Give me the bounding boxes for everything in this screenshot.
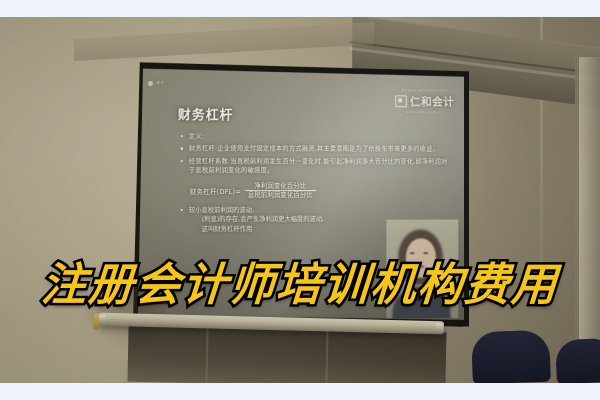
slide-bullet: 经营杠杆系数:当息税前利润发生百分一变化时,能引起净利润多大百分比的变化,即净利… (180, 157, 449, 176)
slide-formula: 财务杠杆(DFL)= 净利润变化百分比 息税前利润变化百分比 (190, 182, 449, 199)
slide-bullet-list: 定义: 财务杠杆:企业使用支付固定成本的方式融资,其主要意图是为了给股东带来更多… (180, 132, 449, 175)
formula-denominator: 息税前利润变化百分比 (245, 190, 316, 199)
brand-name: 仁和会计 (410, 93, 455, 109)
brand-url: www.rhkj.com.cn (395, 110, 454, 114)
brand-row: 仁和会计 (395, 93, 454, 109)
panel-seam (325, 330, 328, 383)
panel-seam (205, 327, 208, 383)
slide-badge: 课件 (148, 80, 165, 86)
slide-badge-label: 课件 (156, 80, 165, 86)
slide-tail-item: 较小息税前利润的波动, (180, 205, 449, 215)
brand-logo: RENHE ACCOUNTING 仁和会计 www.rhkj.com.cn (395, 87, 454, 115)
screenshot-canvas: 课件 RENHE ACCOUNTING 仁和会计 www.rhkj.com.cn… (0, 0, 600, 400)
chair-back (471, 330, 551, 383)
door-frame (575, 57, 600, 357)
formula-left-side: 财务杠杆(DFL)= (190, 186, 241, 196)
formula-numerator: 净利润变化百分比 (251, 182, 309, 190)
slide-bullet: 定义: (180, 132, 449, 142)
overlay-caption: 注册会计师培训机构费用 (0, 262, 600, 307)
classroom-photo: 课件 RENHE ACCOUNTING 仁和会计 www.rhkj.com.cn… (0, 17, 600, 383)
formula-fraction: 净利润变化百分比 息税前利润变化百分比 (245, 182, 316, 199)
under-screen-shadow (127, 326, 446, 383)
letterbox-bottom (0, 383, 600, 400)
slide-bullet: 财务杠杆:企业使用支付固定成本的方式融资,其主要意图是为了给股东带来更多的收益。 (180, 144, 449, 154)
roller-end-cap-right (436, 323, 443, 332)
door-frame-edge (575, 57, 579, 357)
brand-subtitle: RENHE ACCOUNTING (395, 88, 454, 92)
roller-end-cap-left (99, 315, 106, 324)
square-logo-mark-icon (395, 95, 407, 107)
badge-dot-icon (148, 81, 153, 86)
letterbox-top (0, 0, 600, 17)
